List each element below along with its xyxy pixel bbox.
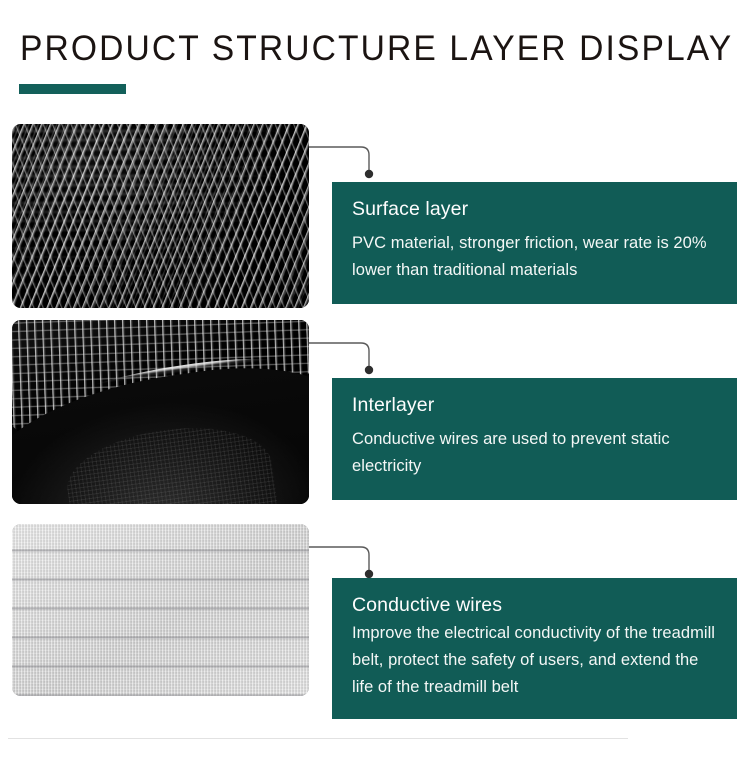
info-panel-conductive-wires: Conductive wires Improve the electrical … xyxy=(332,578,737,719)
belt-cross-section-texture xyxy=(12,320,309,504)
page-title: PRODUCT STRUCTURE LAYER DISPLAY xyxy=(20,29,733,69)
photo-conductive-wires-fabric xyxy=(12,524,309,696)
info-panel-interlayer: Interlayer Conductive wires are used to … xyxy=(332,378,737,500)
layer-row-surface-layer: Surface layer PVC material, stronger fri… xyxy=(0,124,737,310)
layer-row-interlayer: Interlayer Conductive wires are used to … xyxy=(0,320,737,506)
layer-row-conductive-wires: Conductive wires Improve the electrical … xyxy=(0,524,737,714)
panel-body-surface-layer: PVC material, stronger friction, wear ra… xyxy=(352,230,715,283)
panel-heading-interlayer: Interlayer xyxy=(352,394,715,417)
panel-body-interlayer: Conductive wires are used to prevent sta… xyxy=(352,426,715,479)
title-underline-bar xyxy=(19,84,126,94)
bottom-divider xyxy=(8,738,628,739)
pvc-weave-texture xyxy=(12,124,309,308)
panel-heading-conductive-wires: Conductive wires xyxy=(352,594,715,617)
panel-body-conductive-wires: Improve the electrical conductivity of t… xyxy=(352,620,715,700)
conductive-wire-fabric-texture xyxy=(12,524,309,696)
panel-heading-surface-layer: Surface layer xyxy=(352,198,715,221)
photo-surface-layer-pvc-weave xyxy=(12,124,309,308)
info-panel-surface-layer: Surface layer PVC material, stronger fri… xyxy=(332,182,737,304)
photo-interlayer-belt-cross-section xyxy=(12,320,309,504)
